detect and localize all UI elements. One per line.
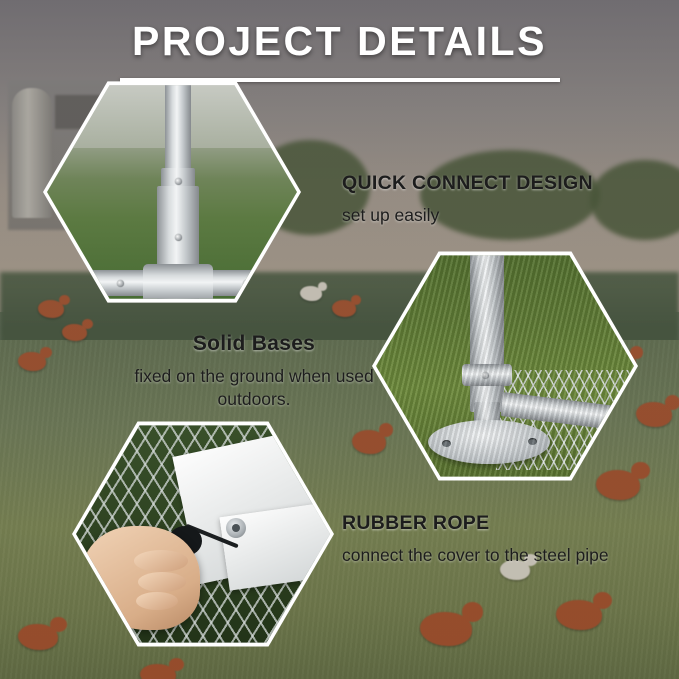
finger bbox=[138, 572, 186, 592]
vertical-pipe-lower bbox=[165, 300, 191, 302]
pipe-foot bbox=[474, 402, 500, 444]
feature-text-rubber-rope: RUBBER ROPE connect the cover to the ste… bbox=[342, 512, 642, 567]
screw-icon bbox=[175, 178, 182, 185]
feature-subline: connect the cover to the steel pipe bbox=[342, 544, 642, 567]
vertical-pipe-upper bbox=[165, 82, 191, 178]
feature-text-solid-bases: Solid Bases fixed on the ground when use… bbox=[128, 332, 380, 411]
feature-subline: set up easily bbox=[342, 204, 642, 227]
product-infographic: PROJECT DETAILS QUICK CONNECT DESIGN s bbox=[0, 0, 679, 679]
page-title: PROJECT DETAILS bbox=[0, 18, 679, 65]
cross-connector-hub bbox=[143, 264, 213, 302]
anchor-hole bbox=[528, 438, 537, 445]
finger bbox=[134, 550, 188, 572]
feature-subline: fixed on the ground when used outdoors. bbox=[128, 365, 380, 411]
feature-headline: RUBBER ROPE bbox=[342, 512, 642, 535]
pipe-collar bbox=[462, 364, 512, 386]
feature-headline: Solid Bases bbox=[128, 332, 380, 356]
anchor-hole bbox=[442, 440, 451, 447]
screw-icon bbox=[482, 372, 489, 379]
title-block: PROJECT DETAILS bbox=[0, 18, 679, 82]
feature-headline: QUICK CONNECT DESIGN bbox=[342, 172, 642, 195]
grommet bbox=[226, 518, 246, 538]
screw-icon bbox=[175, 234, 182, 241]
feature-text-quick-connect: QUICK CONNECT DESIGN set up easily bbox=[342, 172, 642, 227]
title-underline bbox=[120, 78, 560, 82]
finger bbox=[136, 592, 178, 610]
screw-icon bbox=[117, 280, 124, 287]
vertical-pipe bbox=[470, 252, 504, 412]
base-plate bbox=[428, 420, 550, 464]
